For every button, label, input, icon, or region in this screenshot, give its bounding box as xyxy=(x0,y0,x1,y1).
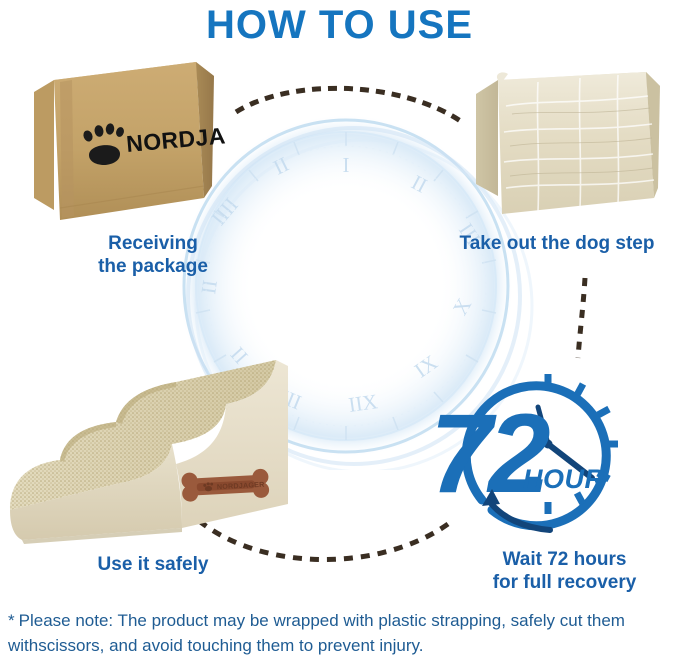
svg-text:I: I xyxy=(343,153,350,177)
dog-step-illustration: NORDJAGER xyxy=(4,332,300,550)
connector-right-line xyxy=(578,278,585,358)
svg-text:X: X xyxy=(448,294,476,319)
footnote: *Please note: The product may be wrapped… xyxy=(8,608,672,658)
step-label-receiving: Receiving the package xyxy=(48,232,258,278)
clock-unit: HOUR xyxy=(523,464,605,494)
svg-text:II: II xyxy=(407,170,431,198)
page-title: HOW TO USE xyxy=(0,2,679,48)
72-hour-clock-icon: 72 HOUR xyxy=(420,352,652,547)
box-left-face xyxy=(34,80,54,210)
step-label-take-out: Take out the dog step xyxy=(435,232,679,255)
step-label-use-safely: Use it safely xyxy=(44,553,262,576)
cardboard-box-illustration: NORDJAGER xyxy=(26,58,226,228)
wrapped-left-face xyxy=(476,80,498,196)
svg-text:IIX: IIX xyxy=(347,389,379,417)
svg-text:II: II xyxy=(269,152,292,180)
footnote-marker: * xyxy=(8,611,15,630)
connector-top-arc xyxy=(236,88,462,122)
step-label-wait: Wait 72 hours for full recovery xyxy=(450,548,679,594)
svg-text:II: II xyxy=(196,278,222,295)
plastic-wrapped-foam-block-illustration xyxy=(468,66,673,226)
footnote-text: Please note: The product may be wrapped … xyxy=(8,611,625,655)
how-to-use-infographic: HOW TO USE xyxy=(0,0,679,659)
